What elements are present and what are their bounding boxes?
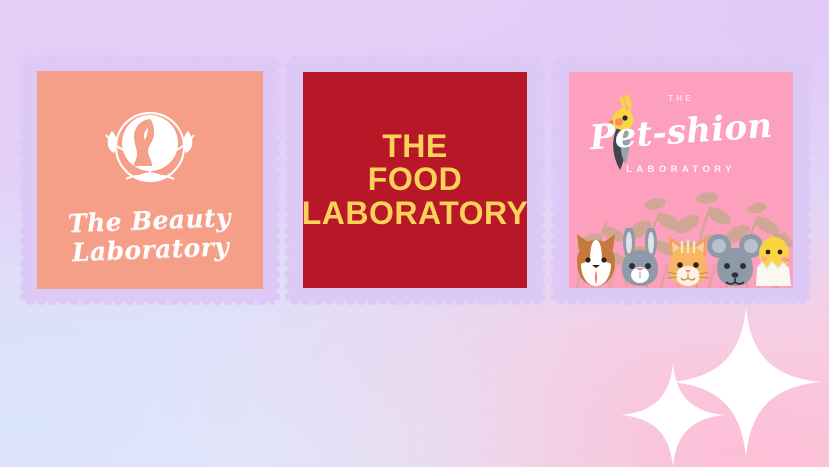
scallop-edge-top [290,55,540,66]
beauty-script-title: The Beauty Laboratory [37,202,263,269]
woman-face-circle-floral-icon [96,101,204,197]
rabbit-icon [622,228,658,286]
scallop-edge-bottom [290,294,540,305]
scallop-edge-right [534,60,545,300]
mouse-icon [707,234,763,286]
cat-icon [667,236,709,286]
beauty-card-inner: The Beauty Laboratory [37,71,263,289]
sparkle-decoration-group [609,277,829,467]
scallop-edge-left [285,60,296,300]
food-laboratory-card[interactable]: THE FOOD LABORATORY [290,60,540,300]
food-title-block: THE FOOD LABORATORY [303,130,527,230]
animal-faces-row [569,228,793,288]
food-card-inner: THE FOOD LABORATORY [303,72,527,288]
scallop-edge-bottom [25,294,275,305]
scallop-edge-top [25,55,275,66]
corgi-dog-icon [577,234,615,286]
pet-footer-text: LABORATORY [569,164,793,175]
beauty-laboratory-card[interactable]: The Beauty Laboratory [25,60,275,300]
sparkle-star-small-icon [621,363,725,467]
slide-canvas: The Beauty Laboratory THE FOOD LABORATOR… [0,0,829,467]
pet-shion-laboratory-card[interactable]: THE Pet-shion LABORATORY [556,60,806,300]
scallop-edge-bottom [556,294,806,305]
scallop-edge-right [800,60,811,300]
scallop-edge-top [556,55,806,66]
food-title-line-1: THE [303,130,527,163]
scallop-edge-left [551,60,562,300]
scallop-edge-right [269,60,280,300]
scallop-edge-left [20,60,31,300]
pet-eyebrow-text: THE [569,94,793,103]
food-title-line-3: LABORATORY [303,197,527,230]
pet-card-inner: THE Pet-shion LABORATORY [569,72,793,288]
food-title-line-2: FOOD [303,163,527,196]
